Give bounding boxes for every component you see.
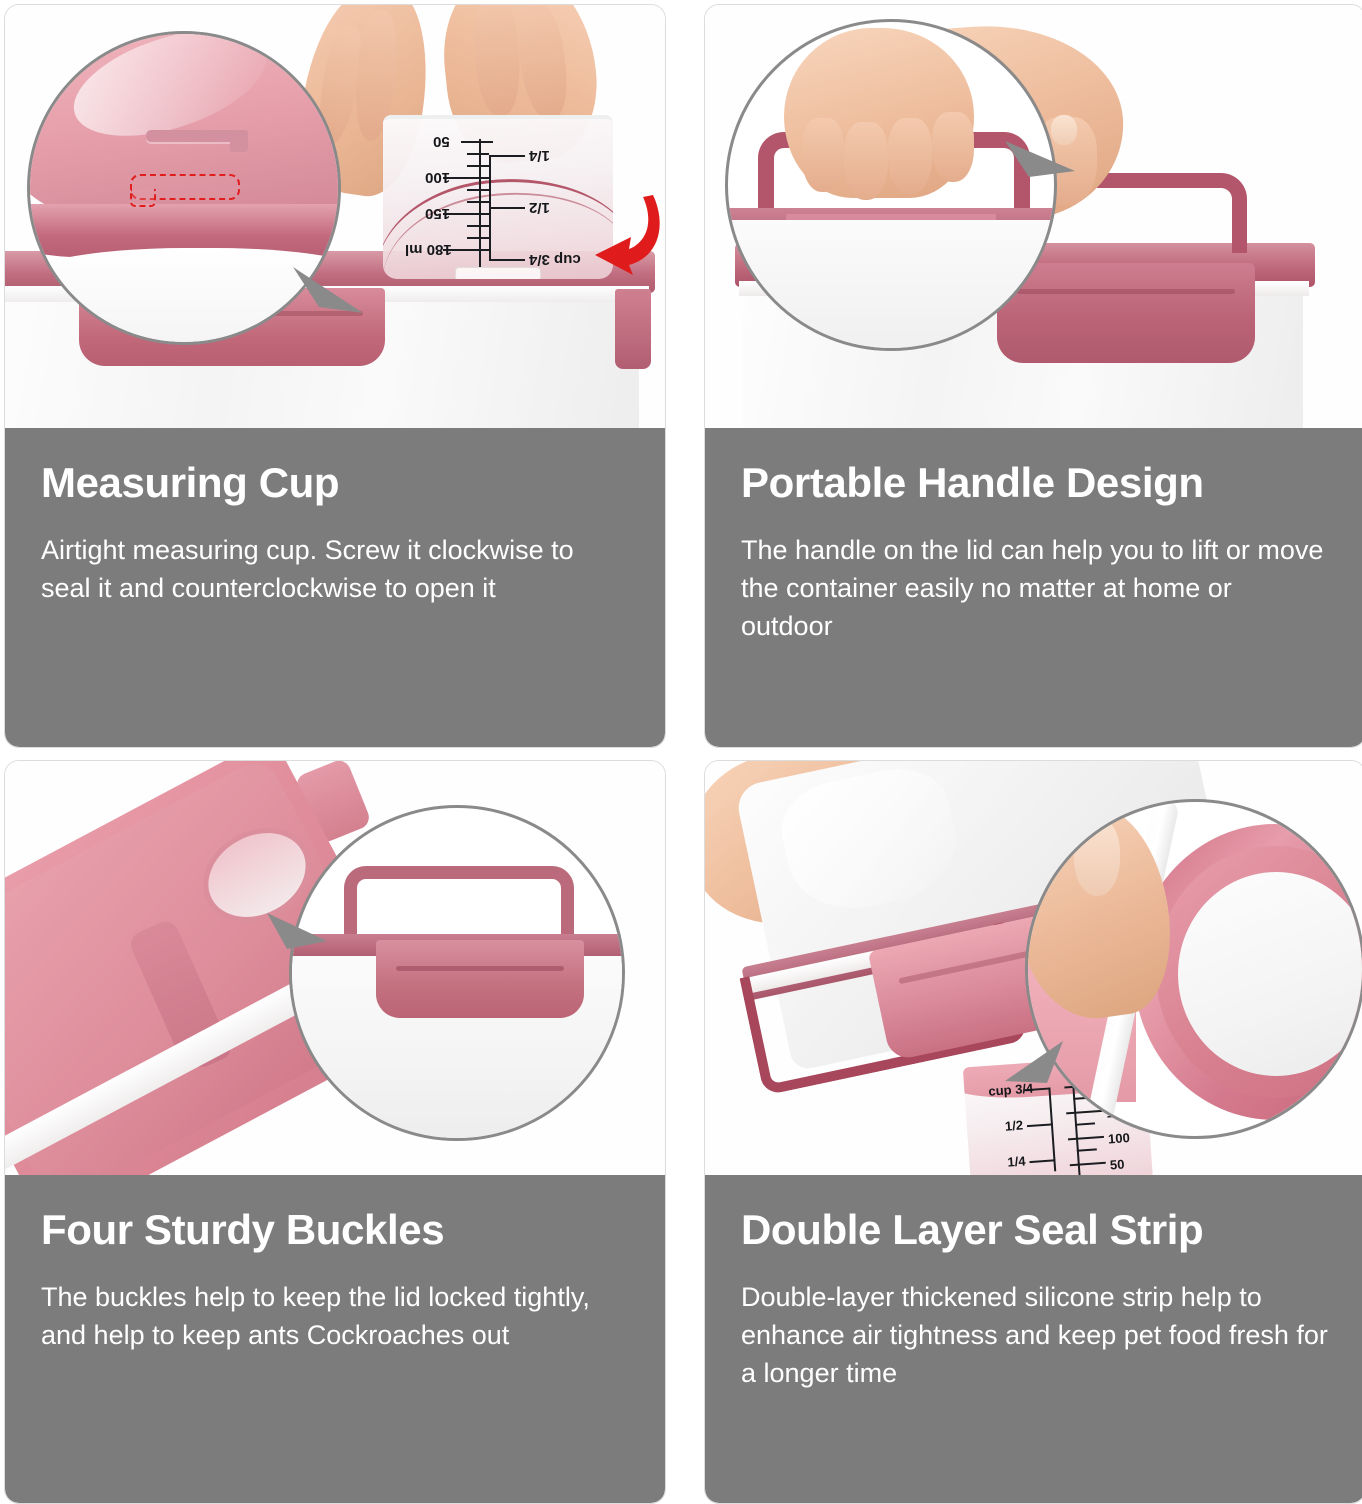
caption-seal-strip: Double Layer Seal Strip Double-layer thi… [705,1175,1362,1503]
photo-seal-strip: 180 ml 150 100 50 cup 3/4 1/2 1/4 [705,761,1362,1175]
finger-shape [844,122,888,200]
carry-handle-closeup [344,866,574,938]
scale-axis [479,139,481,267]
scale-label-half: 1/2 [1004,1117,1023,1133]
magnifier-pointer [1005,1037,1065,1091]
magnifier-inset [1025,799,1362,1139]
scale-tick [1077,1148,1097,1151]
fraction-tick [1027,1123,1053,1127]
lid-ring-center [1178,872,1362,1076]
panel-title: Double Layer Seal Strip [741,1209,1329,1252]
panel-description: Double-layer thickened silicone strip he… [741,1278,1329,1393]
scale-tick [1070,1162,1106,1167]
photo-measuring-cup: 50 100 150 180 ml 1/4 1/2 cup 3/4 [5,5,665,428]
fraction-tick [489,207,525,209]
scale-tick [467,201,489,203]
finger-shape [932,112,974,182]
scale-label-50: 50 [1109,1156,1124,1172]
magnifier-pointer [1005,131,1075,185]
fraction-tick [489,259,525,261]
feature-panel-four-buckles[interactable]: Four Sturdy Buckles The buckles help to … [4,760,666,1504]
magnifier-pointer [267,907,327,957]
magnifier-pointer [293,267,363,327]
feature-panel-seal-strip[interactable]: 180 ml 150 100 50 cup 3/4 1/2 1/4 [704,760,1362,1504]
fraction-tick [1029,1159,1055,1163]
panel-title: Portable Handle Design [741,462,1329,505]
cup-emboss [455,267,541,279]
finger-shape [888,118,932,194]
photo-portable-handle: 50 100 150 180 ml [705,5,1362,428]
scale-tick [467,153,489,155]
scale-label-50: 50 [433,133,450,150]
caption-four-buckles: Four Sturdy Buckles The buckles help to … [5,1175,665,1503]
panel-title: Four Sturdy Buckles [41,1209,629,1252]
scale-label-180ml: 180 ml [405,241,452,258]
scale-label-100: 100 [1108,1130,1131,1146]
feature-panel-measuring-cup[interactable]: 50 100 150 180 ml 1/4 1/2 cup 3/4 [4,4,666,748]
rotate-arrow-icon [593,191,665,277]
scale-label-half: 1/2 [529,199,550,216]
scale-tick [461,141,493,143]
caption-portable-handle: Portable Handle Design The handle on the… [705,428,1362,747]
magnifier-inset [289,805,625,1141]
panel-title: Measuring Cup [41,462,629,505]
magnifier-inset [725,19,1057,351]
buckle-groove [396,966,564,971]
fingernail-shape [1074,818,1120,896]
buckle-closeup [376,940,584,1018]
scale-tick [1068,1136,1104,1141]
feature-panel-portable-handle[interactable]: 50 100 150 180 ml Portable Handle [704,4,1362,748]
scale-label-quarter: 1/4 [529,147,550,164]
scale-tick [1075,1122,1095,1125]
caption-measuring-cup: Measuring Cup Airtight measuring cup. Sc… [5,428,665,747]
highlight-dashed-outline [130,189,156,207]
panel-description: The handle on the lid can help you to li… [741,531,1329,646]
fraction-tick [489,155,525,157]
photo-four-buckles [5,761,665,1175]
panel-description: The buckles help to keep the lid locked … [41,1278,629,1355]
measuring-cup: 50 100 150 180 ml 1/4 1/2 cup 3/4 [383,115,613,279]
scale-tick [467,237,489,239]
scale-label-100: 100 [425,169,450,186]
scale-label-quarter: 1/4 [1007,1153,1026,1169]
finger-shape [802,118,844,192]
feature-grid: 50 100 150 180 ml 1/4 1/2 cup 3/4 [0,0,1362,1500]
screw-rib [230,130,248,152]
side-buckle [615,289,651,369]
scale-label-three-quarter: cup 3/4 [529,251,581,268]
panel-description: Airtight measuring cup. Screw it clockwi… [41,531,629,608]
container-closeup [725,220,1057,351]
scale-label-150: 150 [425,205,450,222]
scale-tick [467,165,489,167]
scale-tick [467,225,489,227]
scale-tick [467,189,489,191]
